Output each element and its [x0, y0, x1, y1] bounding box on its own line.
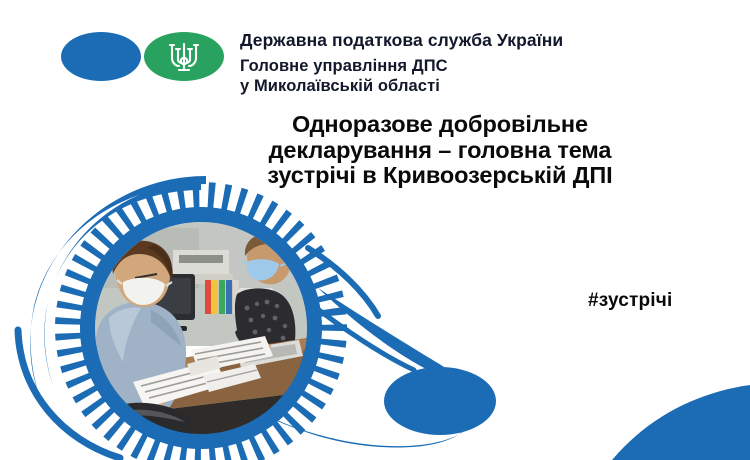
headline-line-2: декларування – головна тема [180, 138, 700, 164]
poster-headline: Одноразове добровільне декларування – го… [180, 112, 700, 189]
headline-line-3: зустрічі в Кривоозерській ДПІ [180, 163, 700, 189]
agency-name-line-2: Головне управління ДПС [240, 56, 740, 76]
agency-name-block: Державна податкова служба України Головн… [240, 29, 740, 96]
poster-canvas: Державна податкова служба України Головн… [0, 0, 750, 460]
ring-feather-stroke-b [308, 248, 378, 316]
logo-blue-oval [61, 32, 141, 81]
brand-header: Державна податкова служба України Головн… [0, 0, 750, 110]
blue-dot-ellipse [384, 367, 496, 435]
headline-line-1: Одноразове добровільне [180, 112, 700, 138]
hashtag-label: #зустрічі [588, 290, 673, 312]
agency-name-line-1: Державна податкова служба України [240, 29, 740, 51]
bottom-right-blue-arc [612, 385, 750, 460]
meeting-photo [95, 222, 307, 434]
swoosh-thin-arc [306, 300, 414, 370]
agency-logo [61, 32, 223, 81]
agency-name-line-3: у Миколаївській області [240, 76, 740, 96]
meeting-photo-scene [95, 222, 307, 434]
ukrainian-trident-icon [164, 41, 204, 73]
